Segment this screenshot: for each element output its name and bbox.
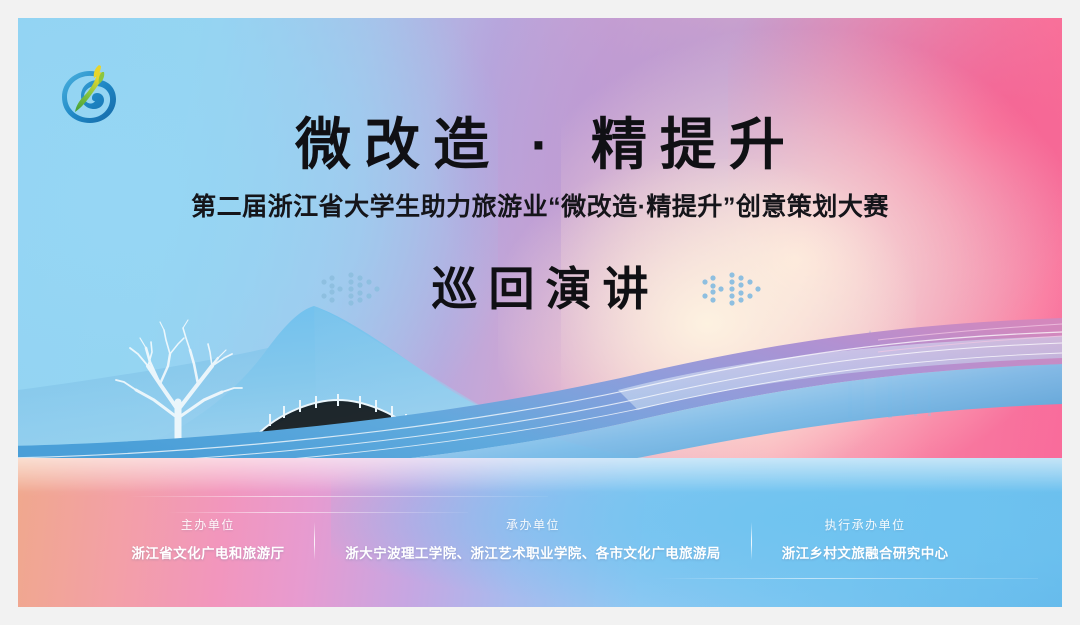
tour-title-row: 巡回演讲	[18, 266, 1062, 312]
credit-name: 浙江乡村文旅融合研究中心	[782, 542, 949, 562]
headline-block: 微改造 · 精提升 第二届浙江省大学生助力旅游业“微改造·精提升”创意策划大赛	[18, 114, 1062, 222]
credit-role: 主办单位	[181, 516, 235, 533]
dot-chevron-ornament	[700, 269, 762, 309]
water-shoreline-glow	[18, 458, 1062, 492]
credit-block-executor: 执行承办单位 浙江乡村文旅融合研究中心	[752, 516, 979, 562]
dot-chevron-ornament	[319, 269, 381, 309]
tour-title: 巡回演讲	[421, 266, 660, 312]
poster-frame: 微改造 · 精提升 第二届浙江省大学生助力旅游业“微改造·精提升”创意策划大赛	[0, 0, 1080, 625]
page-subtitle: 第二届浙江省大学生助力旅游业“微改造·精提升”创意策划大赛	[18, 192, 1062, 222]
credit-name: 浙江省文化广电和旅游厅	[131, 542, 284, 562]
water-highlight-line-3	[658, 578, 1038, 579]
page-title: 微改造 · 精提升	[18, 114, 1062, 176]
water-highlight-line-1	[128, 496, 548, 497]
credit-block-organizer: 主办单位 浙江省文化广电和旅游厅	[101, 516, 314, 562]
credit-name: 浙大宁波理工学院、浙江艺术职业学院、各市文化广电旅游局	[345, 542, 720, 562]
credit-role: 执行承办单位	[825, 516, 906, 533]
water-highlight-line-2	[168, 512, 468, 513]
credit-block-host: 承办单位 浙大宁波理工学院、浙江艺术职业学院、各市文化广电旅游局	[315, 516, 750, 562]
event-poster: 微改造 · 精提升 第二届浙江省大学生助力旅游业“微改造·精提升”创意策划大赛	[18, 18, 1062, 607]
credit-role: 承办单位	[506, 516, 560, 533]
credits-row: 主办单位 浙江省文化广电和旅游厅 承办单位 浙大宁波理工学院、浙江艺术职业学院、…	[18, 516, 1062, 562]
